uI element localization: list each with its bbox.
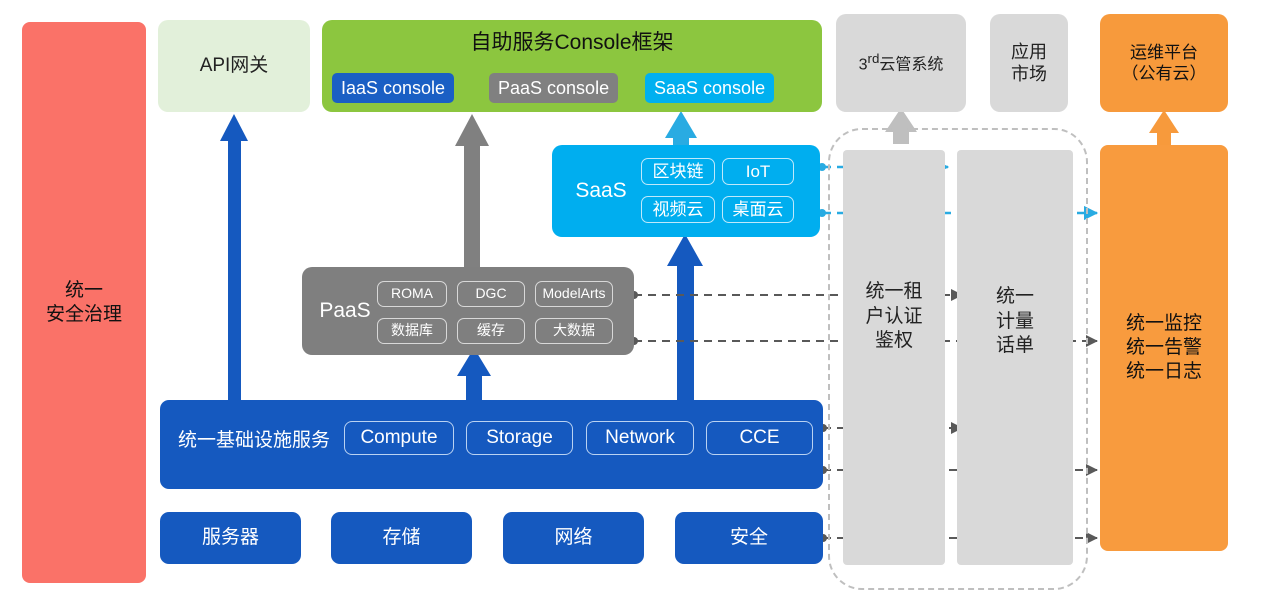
unified-security-governance-label: 统一安全治理 [46, 279, 122, 327]
paas-chip-modelarts[interactable]: ModelArts [535, 281, 613, 307]
paas-chip-cache[interactable]: 缓存 [457, 318, 525, 344]
saas-chip-video-cloud[interactable]: 视频云 [641, 196, 715, 223]
shared-service-metering-label: 统一计量话单 [957, 285, 1073, 359]
saas-chip-blockchain[interactable]: 区块链 [641, 158, 715, 185]
paas-chip-database[interactable]: 数据库 [377, 318, 447, 344]
arrow-infra-to-api-gateway [220, 114, 248, 400]
ops-platform-column-label: 统一监控统一告警统一日志 [1126, 312, 1202, 383]
saas-console-chip[interactable]: SaaS console [645, 73, 774, 103]
saas-layer-label: SaaS [560, 178, 642, 204]
paas-chip-bigdata[interactable]: 大数据 [535, 318, 613, 344]
shared-service-column-metering[interactable]: 统一计量话单 [957, 150, 1073, 565]
paas-chip-dgc[interactable]: DGC [457, 281, 525, 307]
shared-service-column-auth[interactable]: 统一租户认证鉴权 [843, 150, 945, 565]
infra-chip-compute[interactable]: Compute [344, 421, 454, 455]
app-market-box[interactable]: 应用市场 [990, 14, 1068, 112]
iaas-console-chip[interactable]: IaaS console [332, 73, 454, 103]
console-framework-title: 自助服务Console框架 [322, 28, 822, 58]
infra-chip-cce[interactable]: CCE [706, 421, 813, 455]
ops-platform-label: 运维平台（公有云） [1122, 42, 1207, 85]
hardware-box-network[interactable]: 网络 [503, 512, 644, 564]
saas-chip-desktop-cloud[interactable]: 桌面云 [722, 196, 794, 223]
api-gateway-label: API网关 [200, 54, 269, 78]
ops-platform-public-cloud-box[interactable]: 运维平台（公有云） [1100, 14, 1228, 112]
hardware-box-server[interactable]: 服务器 [160, 512, 301, 564]
architecture-diagram: 统一租户认证鉴权 统一计量话单 统一安全治理 API网关 自助服务Console… [0, 0, 1265, 605]
ops-platform-column[interactable]: 统一监控统一告警统一日志 [1100, 145, 1228, 551]
hardware-box-security[interactable]: 安全 [675, 512, 823, 564]
app-market-label: 应用市场 [1011, 41, 1047, 86]
infra-chip-network[interactable]: Network [586, 421, 694, 455]
shared-service-auth-label: 统一租户认证鉴权 [843, 280, 945, 354]
unified-infrastructure-services-label: 统一基础设施服务 [170, 427, 338, 455]
infra-chip-storage[interactable]: Storage [466, 421, 573, 455]
third-party-cloud-mgmt-box[interactable]: 3rd云管系统 [836, 14, 966, 112]
api-gateway-box[interactable]: API网关 [158, 20, 310, 112]
paas-layer-label: PaaS [310, 298, 380, 324]
arrow-infra-to-paas [457, 348, 491, 403]
paas-chip-roma[interactable]: ROMA [377, 281, 447, 307]
unified-security-governance-column[interactable]: 统一安全治理 [22, 22, 146, 583]
hardware-box-storage[interactable]: 存储 [331, 512, 472, 564]
third-party-cloud-mgmt-label: 3rd云管系统 [859, 51, 944, 75]
arrow-ops-col-to-ops-top [1149, 110, 1179, 146]
arrow-paas-to-console [455, 114, 489, 268]
arrow-infra-to-saas [667, 234, 703, 403]
saas-chip-iot[interactable]: IoT [722, 158, 794, 185]
paas-console-chip[interactable]: PaaS console [489, 73, 618, 103]
